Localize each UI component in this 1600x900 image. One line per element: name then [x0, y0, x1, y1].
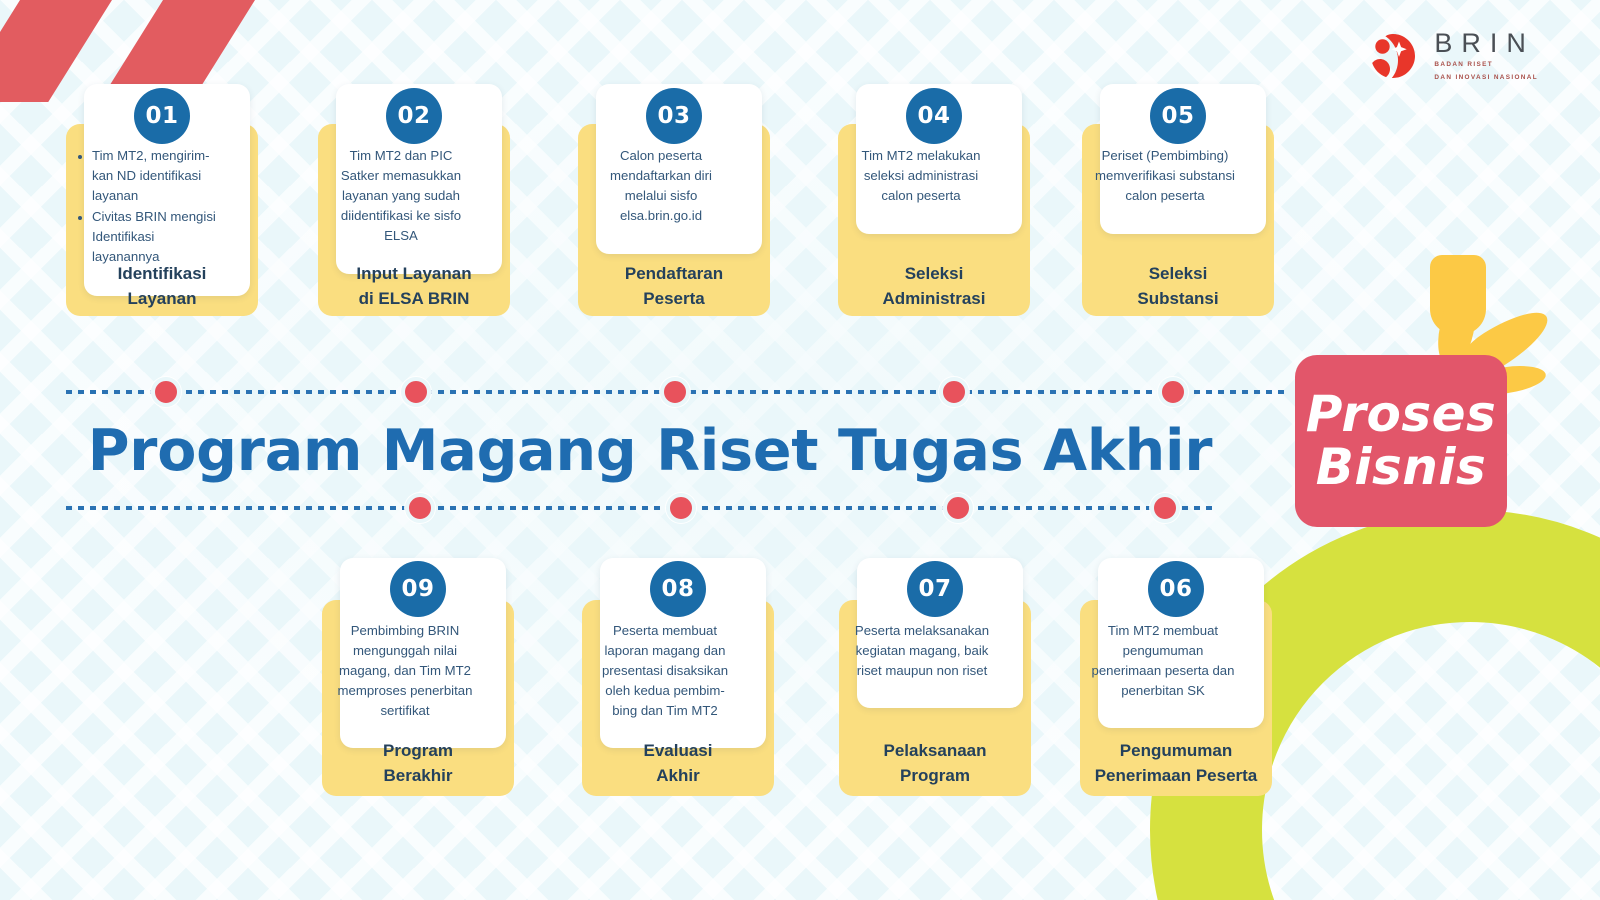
brin-tagline-line1: BADAN RISET: [1434, 60, 1538, 70]
step-description: Calon peserta mendaftarkan diri melalui …: [578, 146, 744, 226]
step-title-line1: Evaluasi: [582, 739, 774, 764]
step-description: Peserta melaksanakan kegiatan magang, ba…: [839, 621, 1005, 681]
step-description: Peserta membuat laporan magang dan prese…: [582, 621, 748, 721]
proses-bisnis-badge: Proses Bisnis: [1295, 355, 1507, 527]
timeline-node: [405, 493, 435, 523]
step-description-text: Tim MT2 dan PIC Satker memasukkan layana…: [329, 146, 473, 246]
step-title: PengumumanPenerimaan Peserta: [1080, 739, 1272, 788]
step-title: Input Layanandi ELSA BRIN: [318, 262, 510, 311]
step-description-text: Pembimbing BRIN mengunggah nilai magang,…: [333, 621, 477, 721]
step-bullet-list: Tim MT2, mengirim-kan ND identifikasi la…: [77, 146, 221, 267]
timeline-node: [401, 377, 431, 407]
step-number-badge: 09: [390, 561, 446, 617]
step-description: Pembimbing BRIN mengunggah nilai magang,…: [322, 621, 488, 721]
step-title-line1: Seleksi: [1082, 262, 1274, 287]
step-number-badge: 06: [1148, 561, 1204, 617]
step-title-line2: Administrasi: [838, 287, 1030, 312]
step-number-badge: 05: [1150, 88, 1206, 144]
step-title-line1: Program: [322, 739, 514, 764]
step-title-line2: Layanan: [66, 287, 258, 312]
step-title-line2: Substansi: [1082, 287, 1274, 312]
step-description: Tim MT2, mengirim-kan ND identifikasi la…: [66, 146, 232, 268]
step-description: Tim MT2 melakukan seleksi administrasi c…: [838, 146, 1004, 206]
timeline-node: [1158, 377, 1188, 407]
step-description-text: Peserta membuat laporan magang dan prese…: [593, 621, 737, 721]
step-title: SeleksiAdministrasi: [838, 262, 1030, 311]
step-title: IdentifikasiLayanan: [66, 262, 258, 311]
page-title: Program Magang Riset Tugas Akhir: [0, 418, 1300, 484]
timeline-node: [151, 377, 181, 407]
step-bullet-item: Tim MT2, mengirim-kan ND identifikasi la…: [92, 146, 221, 206]
step-title-line1: Pengumuman: [1080, 739, 1272, 764]
step-title: EvaluasiAkhir: [582, 739, 774, 788]
step-description-text: Periset (Pembimbing) memverifikasi subst…: [1093, 146, 1237, 206]
timeline-node: [1150, 493, 1180, 523]
step-title-line1: Seleksi: [838, 262, 1030, 287]
step-description-text: Calon peserta mendaftarkan diri melalui …: [589, 146, 733, 226]
step-description-text: Tim MT2 melakukan seleksi administrasi c…: [849, 146, 993, 206]
brin-tagline-line2: DAN INOVASI NASIONAL: [1434, 73, 1538, 83]
step-title-line2: Peserta: [578, 287, 770, 312]
step-number-badge: 04: [906, 88, 962, 144]
step-number-badge: 01: [134, 88, 190, 144]
step-description: Periset (Pembimbing) memverifikasi subst…: [1082, 146, 1248, 206]
proses-bisnis-line1: Proses: [1306, 389, 1497, 440]
proses-bisnis-line2: Bisnis: [1316, 442, 1487, 493]
timeline-node: [939, 377, 969, 407]
step-title: PendaftaranPeserta: [578, 262, 770, 311]
step-title: ProgramBerakhir: [322, 739, 514, 788]
timeline-node: [943, 493, 973, 523]
step-title-line1: Pendaftaran: [578, 262, 770, 287]
step-number-badge: 08: [650, 561, 706, 617]
step-title-line1: Pelaksanaan: [839, 739, 1031, 764]
timeline-node: [666, 493, 696, 523]
step-title-line2: di ELSA BRIN: [318, 287, 510, 312]
step-title-line1: Identifikasi: [66, 262, 258, 287]
step-description: Tim MT2 dan PIC Satker memasukkan layana…: [318, 146, 484, 246]
step-title: PelaksanaanProgram: [839, 739, 1031, 788]
proses-bisnis-box: Proses Bisnis: [1295, 355, 1507, 527]
infographic-canvas: BRIN BADAN RISET DAN INOVASI NASIONAL Pr…: [0, 0, 1600, 900]
step-number-badge: 03: [646, 88, 702, 144]
step-description: Tim MT2 membuat pengumuman penerimaan pe…: [1080, 621, 1246, 701]
timeline-node: [660, 377, 690, 407]
step-title-line2: Akhir: [582, 764, 774, 789]
step-number-badge: 02: [386, 88, 442, 144]
step-bullet-item: Civitas BRIN mengisi Identifikasi layana…: [92, 207, 221, 267]
step-description-text: Tim MT2 membuat pengumuman penerimaan pe…: [1091, 621, 1235, 701]
step-title-line1: Input Layanan: [318, 262, 510, 287]
step-number-badge: 07: [907, 561, 963, 617]
step-title-line2: Penerimaan Peserta: [1080, 764, 1272, 789]
step-title-line2: Program: [839, 764, 1031, 789]
brin-mark-icon: [1368, 31, 1418, 81]
timeline-rail-bottom: [66, 506, 1218, 510]
brin-word: BRIN: [1434, 30, 1538, 57]
brin-wordmark: BRIN BADAN RISET DAN INOVASI NASIONAL: [1434, 30, 1538, 82]
brin-logo: BRIN BADAN RISET DAN INOVASI NASIONAL: [1368, 30, 1538, 82]
step-title-line2: Berakhir: [322, 764, 514, 789]
step-title: SeleksiSubstansi: [1082, 262, 1274, 311]
step-description-text: Peserta melaksanakan kegiatan magang, ba…: [850, 621, 994, 681]
